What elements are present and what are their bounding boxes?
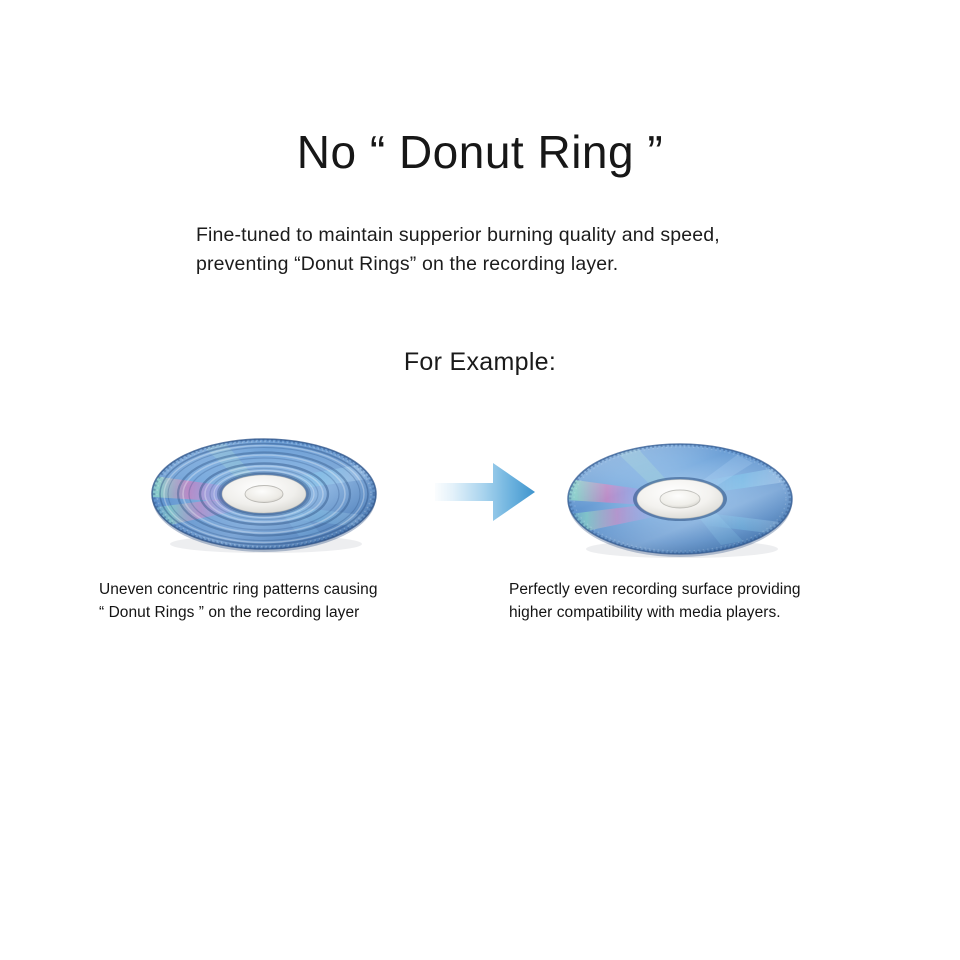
subtitle-line-2: preventing “Donut Rings” on the recordin… — [196, 250, 796, 279]
slide-canvas: No “ Donut Ring ” Fine-tuned to maintain… — [0, 0, 960, 960]
disc-right-caption-line-2: higher compatibility with media players. — [509, 601, 909, 624]
optical-disc-with-donut-rings-icon — [149, 432, 379, 557]
disc-right-caption: Perfectly even recording surface providi… — [509, 578, 909, 624]
right-arrow-icon — [433, 460, 537, 524]
disc-left-caption-line-2: “ Donut Rings ” on the recording layer — [99, 601, 499, 624]
for-example-label: For Example: — [0, 345, 960, 379]
transition-arrow — [433, 460, 537, 524]
disc-right-figure — [565, 437, 795, 562]
disc-left-caption-line-1: Uneven concentric ring patterns causing — [99, 578, 499, 601]
subtitle-line-1: Fine-tuned to maintain supperior burning… — [196, 221, 796, 250]
disc-left-figure — [149, 432, 379, 557]
disc-right-caption-line-1: Perfectly even recording surface providi… — [509, 578, 909, 601]
optical-disc-even-surface-icon — [565, 437, 795, 562]
disc-left-caption: Uneven concentric ring patterns causing … — [99, 578, 499, 624]
subtitle-text: Fine-tuned to maintain supperior burning… — [196, 221, 796, 279]
page-title: No “ Donut Ring ” — [0, 124, 960, 180]
